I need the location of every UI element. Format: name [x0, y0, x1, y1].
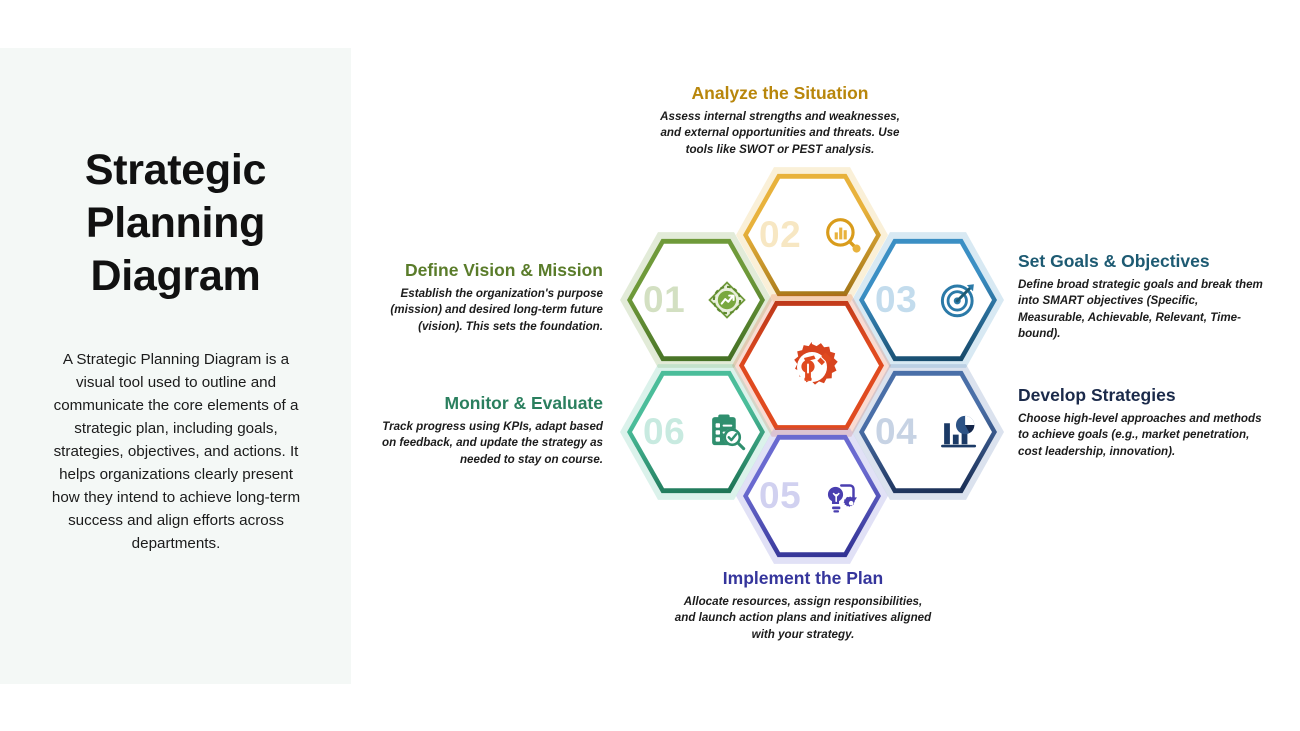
gear-hand-hammer-icon	[784, 338, 840, 394]
clipboard-check-magnifier-icon	[706, 411, 748, 453]
caption-description: Define broad strategic goals and break t…	[1018, 277, 1268, 342]
caption-description: Track progress using KPIs, adapt based o…	[372, 419, 603, 468]
caption-description: Allocate resources, assign responsibilit…	[673, 594, 933, 643]
caption-set-goals-objectives: Set Goals & Objectives Define broad stra…	[1018, 250, 1268, 342]
page-title: Strategic Planning Diagram	[18, 144, 333, 303]
hexagon-number: 04	[875, 411, 917, 453]
strategic-planning-diagram: Analyze the Situation Assess internal st…	[351, 0, 1300, 731]
hexagon-number: 05	[759, 475, 801, 517]
caption-title: Monitor & Evaluate	[372, 392, 603, 414]
caption-description: Establish the organization's purpose (mi…	[372, 286, 603, 335]
hexagon-number: 01	[643, 279, 685, 321]
caption-title: Define Vision & Mission	[372, 259, 603, 281]
caption-monitor-evaluate: Monitor & Evaluate Track progress using …	[372, 392, 603, 468]
caption-title: Set Goals & Objectives	[1018, 250, 1268, 272]
intro-paragraph: A Strategic Planning Diagram is a visual…	[48, 348, 304, 555]
left-info-panel: Strategic Planning Diagram A Strategic P…	[0, 48, 351, 684]
caption-define-vision-mission: Define Vision & Mission Establish the or…	[372, 259, 603, 335]
caption-analyze-the-situation: Analyze the Situation Assess internal st…	[650, 82, 910, 158]
hexagon-step-06[interactable]: 06	[627, 369, 765, 495]
caption-title: Implement the Plan	[673, 567, 933, 589]
magnifier-bar-chart-icon	[822, 214, 864, 256]
lightbulb-gear-icon	[822, 475, 864, 517]
caption-title: Develop Strategies	[1018, 384, 1268, 406]
caption-description: Assess internal strengths and weaknesses…	[650, 109, 910, 158]
caption-develop-strategies: Develop Strategies Choose high-level app…	[1018, 384, 1268, 460]
caption-title: Analyze the Situation	[650, 82, 910, 104]
hexagon-number: 02	[759, 214, 801, 256]
hexagon-number: 06	[643, 411, 685, 453]
caption-description: Choose high-level approaches and methods…	[1018, 411, 1268, 460]
bar-pie-chart-icon	[938, 411, 980, 453]
caption-implement-the-plan: Implement the Plan Allocate resources, a…	[673, 567, 933, 643]
target-dart-icon	[938, 279, 980, 321]
